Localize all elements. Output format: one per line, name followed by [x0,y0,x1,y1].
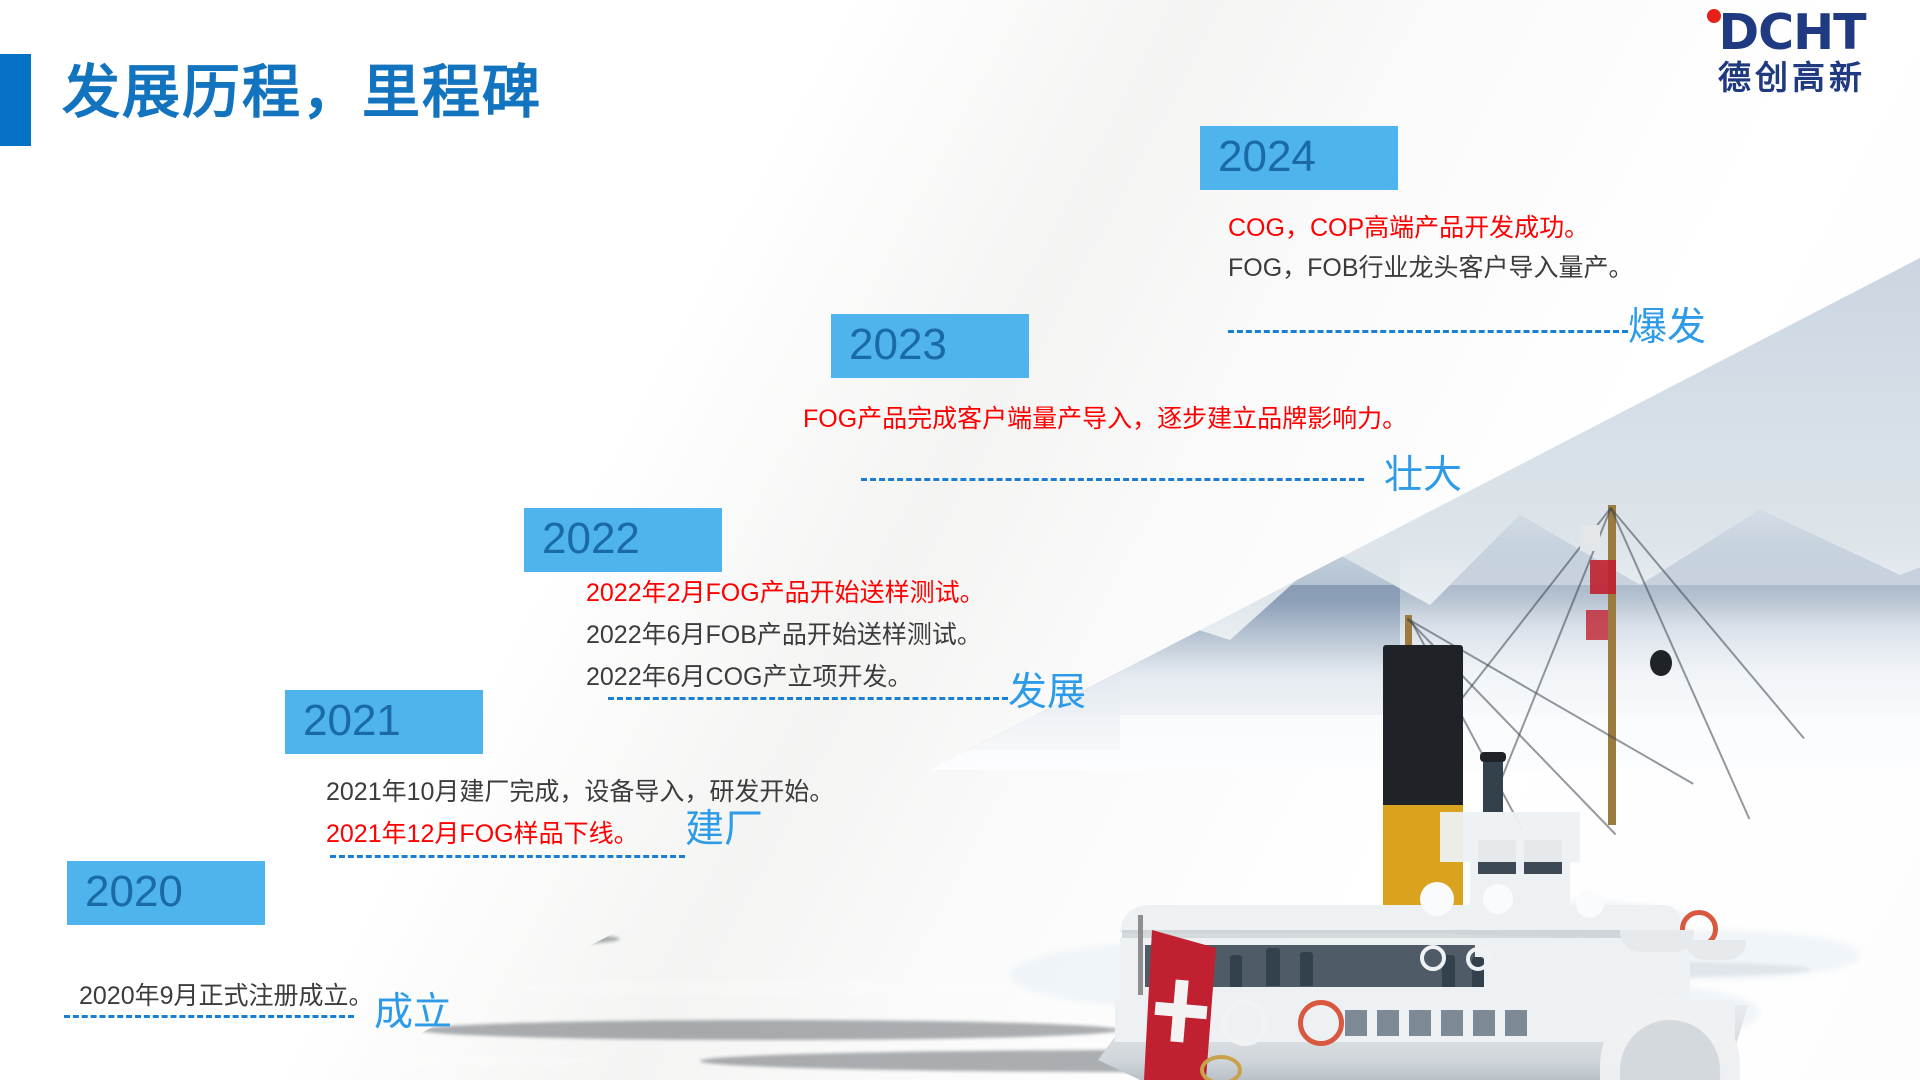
signal-flag [1586,610,1608,640]
lifebuoy [1420,945,1446,971]
milestone-dashed-line [330,855,685,858]
passenger [1300,952,1313,986]
deck-lamp [1420,882,1454,916]
milestone-line: 2021年10月建厂完成，设备导入，研发开始。 [326,772,834,808]
milestone-tag: 壮大 [1384,456,1462,495]
lifeboat [1620,930,1694,952]
hull-window [1377,1010,1399,1036]
milestone-line: 2022年6月COG产立项开发。 [586,657,912,693]
milestone-line: 2022年2月FOG产品开始送样测试。 [586,573,985,609]
wave [420,1020,1120,1040]
passenger [1230,955,1242,987]
milestone-line: 2020年9月正式注册成立。 [79,976,374,1012]
signal-flag [1580,525,1600,551]
milestone-line: FOG产品完成客户端量产导入，逐步建立品牌影响力。 [803,399,1407,435]
bow-emblem [1200,1055,1242,1080]
masthead-ball [1650,650,1672,676]
milestone-line: COG，COP高端产品开发成功。 [1228,208,1589,244]
slide-canvas: 发展历程，里程碑 DCHT 德创高新 2024 COG，COP高端产品开发成功。… [0,0,1920,1080]
milestone-tag: 发展 [1008,673,1086,712]
year-badge-2024[interactable]: 2024 [1200,126,1398,190]
milestone-dashed-line [64,1015,354,1018]
year-badge-2020[interactable]: 2020 [67,861,265,925]
milestone-line: 2021年12月FOG样品下线。 [326,814,639,850]
hull-window [1409,1010,1431,1036]
signal-flag [1590,560,1616,594]
flagstaff [1138,915,1143,995]
deck-lamp [1483,884,1513,914]
year-badge-2021[interactable]: 2021 [285,690,483,754]
captain-figure [1483,760,1503,812]
milestone-tag: 成立 [374,993,452,1032]
funnel-black-section [1383,645,1463,805]
milestone-tag: 爆发 [1628,308,1706,347]
lifebuoy [1298,1000,1344,1046]
passenger [1266,948,1280,986]
milestone-dashed-line [1228,330,1628,333]
year-badge-2023[interactable]: 2023 [831,314,1029,378]
hull-window [1345,1010,1367,1036]
lifeboat [1686,940,1746,960]
aft-upper-deck [1440,812,1580,862]
deck-lamp [1576,890,1604,918]
hull-window [1505,1010,1527,1036]
page-title: 发展历程，里程碑 [62,45,542,129]
year-badge-2022[interactable]: 2022 [524,508,722,572]
wave [250,1055,600,1067]
logo-wordmark: DCHT [1690,8,1894,57]
milestone-line: 2022年6月FOB产品开始送样测试。 [586,615,982,651]
milestone-dashed-line [608,697,1008,700]
mainmast [1608,505,1616,825]
hull-window [1473,1010,1495,1036]
milestone-dashed-line [861,478,1364,481]
milestone-line: FOG，FOB行业龙头客户导入量产。 [1228,248,1634,284]
lifebuoy [1222,1000,1268,1046]
wave [520,980,1020,996]
hull-window [1441,1010,1463,1036]
logo-wordmark-text: DCHT [1718,4,1865,61]
company-logo: DCHT 德创高新 [1690,8,1894,94]
captain-hat [1480,752,1506,762]
lifebuoy [1466,947,1490,971]
title-accent-bar [0,54,31,146]
lake-steamer-photo [0,0,1920,1080]
background-photo-panel [0,0,1920,1080]
logo-chinese-name: 德创高新 [1690,61,1894,94]
logo-red-dot-icon [1707,9,1721,23]
wave [200,930,620,948]
milestone-tag: 建厂 [685,810,763,849]
